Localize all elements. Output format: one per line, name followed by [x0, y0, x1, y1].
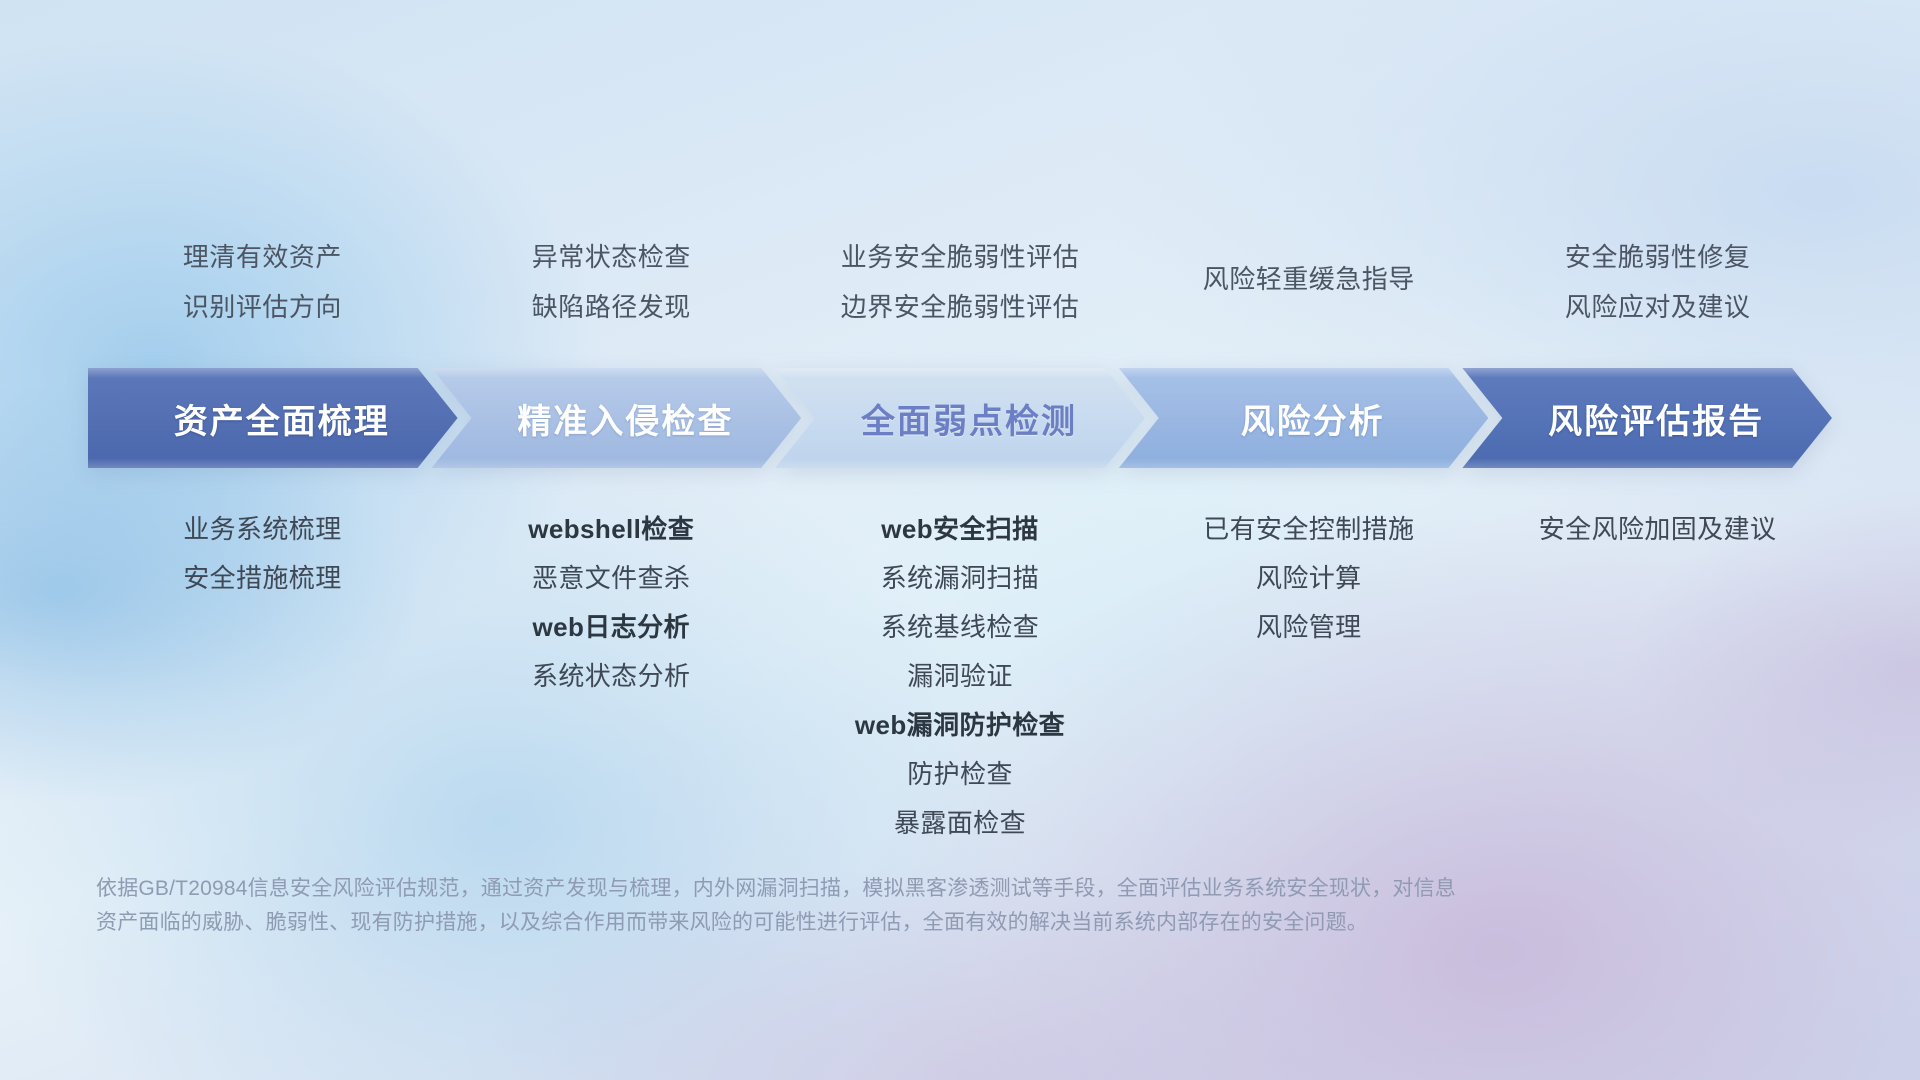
bottom-item: 暴露面检查 [894, 799, 1026, 848]
top-item: 安全脆弱性修复 [1565, 232, 1751, 282]
bottom-item: 系统状态分析 [532, 652, 690, 701]
stage-arrow-weakness-detection[interactable]: 全面弱点检测 [775, 368, 1145, 468]
bottom-column-weakness-detection: web安全扫描 系统漏洞扫描 系统基线检查 漏洞验证 web漏洞防护检查 防护检… [786, 505, 1135, 848]
bottom-item: 已有安全控制措施 [1203, 505, 1414, 554]
top-item: 业务安全脆弱性评估 [841, 232, 1080, 282]
process-arrow-banner: 资产全面梳理 精准入侵检查 全面弱点检测 风险分析 风险评估报告 [88, 368, 1832, 468]
bottom-item: 安全措施梳理 [183, 554, 341, 603]
stage-title: 风险评估报告 [1530, 394, 1764, 443]
top-column-risk-report: 安全脆弱性修复 风险应对及建议 [1483, 232, 1832, 332]
slide-content: 理清有效资产 识别评估方向 异常状态检查 缺陷路径发现 业务安全脆弱性评估 边界… [0, 0, 1920, 1080]
slide-canvas: 理清有效资产 识别评估方向 异常状态检查 缺陷路径发现 业务安全脆弱性评估 边界… [0, 0, 1920, 1080]
footer-description: 依据GB/T20984信息安全风险评估规范，通过资产发现与梳理，内外网漏洞扫描，… [96, 872, 1626, 940]
bottom-column-risk-report: 安全风险加固及建议 [1483, 505, 1832, 554]
bottom-column-risk-analysis: 已有安全控制措施 风险计算 风险管理 [1134, 505, 1483, 652]
stage-title: 风险分析 [1223, 394, 1385, 443]
top-item: 风险轻重缓急指导 [1203, 254, 1415, 304]
bottom-item: web漏洞防护检查 [855, 701, 1065, 750]
footer-line-1: 依据GB/T20984信息安全风险评估规范，通过资产发现与梳理，内外网漏洞扫描，… [96, 872, 1626, 906]
top-item: 识别评估方向 [183, 282, 342, 332]
bottom-details-row: 业务系统梳理 安全措施梳理 webshell检查 恶意文件查杀 web日志分析 … [88, 505, 1832, 848]
stage-arrow-intrusion-check[interactable]: 精准入侵检查 [432, 368, 802, 468]
bottom-item: 漏洞验证 [907, 652, 1013, 701]
bottom-item: 系统漏洞扫描 [881, 554, 1039, 603]
bottom-item: 风险计算 [1256, 554, 1362, 603]
top-item: 异常状态检查 [532, 232, 691, 282]
top-column-risk-analysis: 风险轻重缓急指导 [1134, 232, 1483, 304]
bottom-column-asset-inventory: 业务系统梳理 安全措施梳理 [88, 505, 437, 603]
top-item: 边界安全脆弱性评估 [841, 282, 1080, 332]
bottom-item: webshell检查 [528, 505, 694, 554]
footer-line-2: 资产面临的威胁、脆弱性、现有防护措施，以及综合作用而带来风险的可能性进行评估，全… [96, 906, 1626, 940]
bottom-item: 风险管理 [1256, 603, 1362, 652]
stage-title: 精准入侵检查 [499, 394, 733, 443]
bottom-item: web安全扫描 [881, 505, 1038, 554]
top-item: 缺陷路径发现 [532, 282, 691, 332]
top-item: 理清有效资产 [183, 232, 342, 282]
bottom-item: 系统基线检查 [881, 603, 1039, 652]
bottom-item: 业务系统梳理 [183, 505, 341, 554]
top-column-weakness-detection: 业务安全脆弱性评估 边界安全脆弱性评估 [786, 232, 1135, 332]
bottom-item: 安全风险加固及建议 [1539, 505, 1777, 554]
top-descriptors-row: 理清有效资产 识别评估方向 异常状态检查 缺陷路径发现 业务安全脆弱性评估 边界… [88, 232, 1832, 332]
top-item: 风险应对及建议 [1565, 282, 1751, 332]
stage-title: 资产全面梳理 [156, 394, 390, 443]
stage-arrow-risk-analysis[interactable]: 风险分析 [1119, 368, 1489, 468]
top-column-asset-inventory: 理清有效资产 识别评估方向 [88, 232, 437, 332]
bottom-item: web日志分析 [533, 603, 690, 652]
stage-arrow-risk-report[interactable]: 风险评估报告 [1462, 368, 1832, 468]
bottom-column-intrusion-check: webshell检查 恶意文件查杀 web日志分析 系统状态分析 [437, 505, 786, 701]
bottom-item: 恶意文件查杀 [532, 554, 690, 603]
top-column-intrusion-check: 异常状态检查 缺陷路径发现 [437, 232, 786, 332]
stage-arrow-asset-inventory[interactable]: 资产全面梳理 [88, 368, 458, 468]
bottom-item: 防护检查 [907, 750, 1013, 799]
stage-title: 全面弱点检测 [843, 394, 1077, 443]
